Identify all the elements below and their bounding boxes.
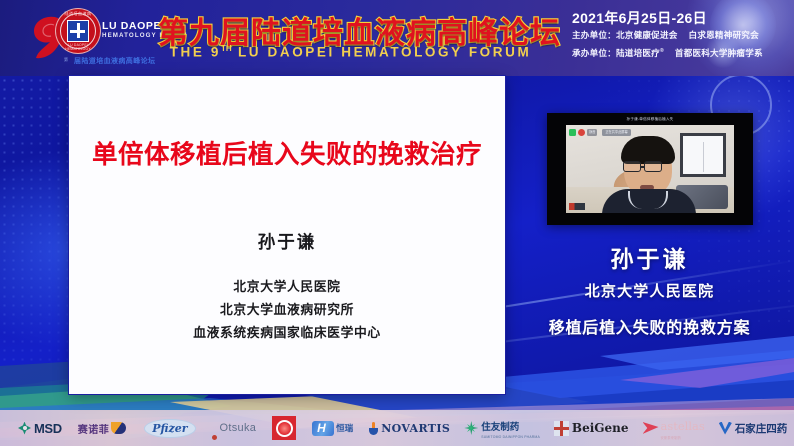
video-corner-watermark (569, 203, 585, 210)
mute-label[interactable]: 静音 (587, 129, 597, 136)
sponsor-logo-sjzsy: 石家庄四药 (705, 410, 788, 446)
red-ring-icon (276, 420, 293, 437)
video-control-bar[interactable]: 静音 正在共享此屏幕 (569, 128, 631, 136)
organizer-name-2: 白求恩精神研究会 (689, 30, 759, 40)
video-overlay-caption: 孙于谦-单倍体移植后植入失 (547, 117, 753, 122)
sponsor-logo-msd: MSD (0, 410, 62, 446)
sponsor-name: Otsuka (220, 422, 257, 434)
sponsor-name: astellas (661, 419, 705, 433)
speaker-video-feed[interactable]: 孙于谦-单倍体移植后植入失 静音 正在共享此屏幕 (547, 113, 753, 225)
eyeglasses-left-lens (623, 161, 641, 172)
logo-english-line1: LU DAOPEI (102, 20, 165, 32)
cohost-name-1: 陆道培医疗 (616, 48, 660, 58)
forum-title-english-sup: TH (221, 44, 232, 53)
event-header-banner: 陆道培血液病 LU DAOPEI HEMATOLOGY LU DAOPEI HE… (0, 0, 794, 76)
organizer-line: 主办单位：北京健康促进会白求恩精神研究会 (572, 29, 759, 41)
sponsor-name: BeiGene (572, 421, 629, 435)
presentation-slide[interactable]: 单倍体移植后植入失败的挽救治疗 孙于谦 北京大学人民医院 北京大学血液病研究所 … (69, 76, 505, 394)
seal-top-text: 陆道培血液病 (56, 11, 100, 17)
slide-affiliations: 北京大学人民医院 北京大学血液病研究所 血液系统疾病国家临床医学中心 (69, 276, 505, 345)
sponsor-logo-sanofi: 赛诺菲 (62, 410, 127, 446)
video-inner-screen: 静音 正在共享此屏幕 (566, 125, 734, 213)
otsuka-dot-icon (212, 435, 217, 440)
sponsor-subtext: SUMITOMO DAINIPPON PHARMA (481, 435, 540, 439)
speaker-collar (628, 191, 668, 209)
sjzsy-v-icon (719, 422, 732, 435)
astellas-arrow-icon (643, 422, 659, 434)
seal-cross-icon (67, 20, 89, 42)
red-square-icon (272, 416, 296, 440)
eyeglasses-bridge (641, 166, 644, 168)
event-date: 2021年6月25日-26日 (572, 8, 707, 28)
sponsor-name: 石家庄四药 (735, 421, 788, 436)
microphone-icon[interactable] (569, 129, 576, 136)
sumitomo-star-icon (464, 421, 478, 435)
eyeglasses-right-lens (644, 161, 662, 172)
slide-affiliation-line: 血液系统疾病国家临床医学中心 (69, 322, 505, 345)
sponsor-subtext: 安斯泰来制药 (661, 435, 705, 440)
sponsor-name: NOVARTIS (381, 422, 450, 435)
organizer-label: 主办单位： (572, 30, 616, 40)
forum-title-english-post: LU DAOPEI HEMATOLOGY FORUM (232, 45, 532, 60)
novartis-flame-icon (369, 422, 378, 435)
screen-share-pill: 正在共享此屏幕 (602, 129, 630, 136)
sponsor-logo-otsuka: Otsuka (196, 410, 257, 446)
hengrui-mark-icon (312, 421, 334, 436)
sponsor-logo-novartis: NOVARTIS (353, 410, 450, 446)
sponsor-logo-astellas: astellas 安斯泰来制药 (629, 410, 705, 446)
cohost-line: 承办单位：陆道培医疗®首都医科大学肿瘤学系 (572, 47, 763, 59)
sponsor-name: MSD (34, 421, 62, 436)
record-icon[interactable] (578, 129, 585, 136)
slide-title: 单倍体移植后植入失败的挽救治疗 (69, 134, 505, 171)
sanofi-swoosh-icon (111, 422, 126, 434)
lu-daopei-logo: 陆道培血液病 LU DAOPEI HEMATOLOGY LU DAOPEI HE… (28, 4, 178, 72)
speaker-hair (621, 136, 675, 164)
msd-flower-icon (18, 422, 31, 435)
presentation-topic: 移植后植入失败的挽救方案 (505, 314, 794, 338)
organizer-name-1: 北京健康促进会 (616, 30, 678, 40)
cohost-name-2: 首都医科大学肿瘤学系 (675, 48, 763, 58)
sponsor-name: 恒瑞 (336, 422, 353, 434)
presenter-name: 孙于谦 (505, 240, 794, 274)
sponsor-logo-hengrui: 恒瑞 (296, 410, 353, 446)
background-window (680, 133, 726, 177)
sponsor-logo-bar: MSD 赛诺菲 Pfizer Otsuka 恒瑞 NOVARTIS (0, 410, 794, 446)
beigene-cross-icon (554, 421, 569, 436)
sponsor-name: Pfizer (144, 419, 195, 438)
broadcast-stage: MSD 赛诺菲 Pfizer Otsuka 恒瑞 NOVARTIS (0, 0, 794, 446)
slide-affiliation-line: 北京大学血液病研究所 (69, 299, 505, 322)
sponsor-logo-red-mark (256, 410, 296, 446)
sponsor-logo-sumitomo: 住友制药 SUMITOMO DAINIPPON PHARMA (450, 410, 540, 446)
cohost-label: 承办单位： (572, 48, 616, 58)
presenter-hospital: 北京大学人民医院 (505, 280, 794, 301)
forum-title-english-pre: THE 9 (170, 45, 221, 60)
sponsor-logo-pfizer: Pfizer (126, 410, 195, 446)
forum-title-english: THE 9TH LU DAOPEI HEMATOLOGY FORUM (158, 44, 543, 60)
cohost-registered-mark: ® (660, 48, 664, 54)
sponsor-logo-beigene: BeiGene (540, 410, 629, 446)
slide-affiliation-line: 北京大学人民医院 (69, 276, 505, 299)
sponsor-logo-sinopharm: 国药集团 SINOPHARM (787, 410, 794, 446)
logo-ordinal-mark: 第 (64, 57, 68, 63)
sponsor-name: 赛诺菲 (78, 421, 110, 436)
logo-chinese-line: 届陆道培血液病高峰论坛 (74, 56, 155, 66)
sponsor-name: 住友制药 (481, 422, 519, 433)
lu-daopei-seal-icon: 陆道培血液病 LU DAOPEI HEMATOLOGY (56, 9, 100, 53)
slide-presenter-name: 孙于谦 (69, 229, 505, 254)
seal-bottom-text: LU DAOPEI HEMATOLOGY (56, 43, 100, 51)
